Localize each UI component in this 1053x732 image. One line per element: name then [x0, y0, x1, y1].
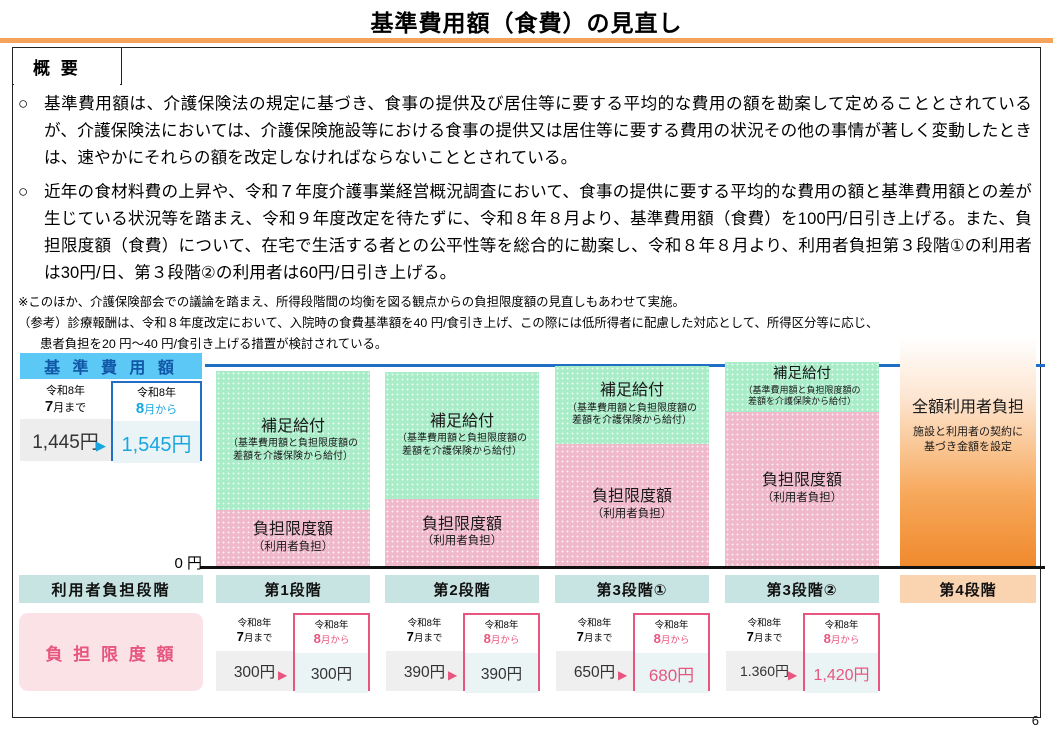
segment-subtitle: （利用者負担）: [592, 508, 673, 522]
limit-row-label: 負 担 限 度 額: [19, 613, 203, 691]
limit-after-col: 令和8年 8月から 680円: [633, 613, 710, 691]
limit-after-value: 390円: [465, 653, 538, 693]
bar-stage-3-1: 補足給付 （基準費用額と負担限度額の差額を介護保険から給付） 負担限度額 （利用…: [555, 366, 709, 566]
segment-subtitle: （利用者負担）: [422, 535, 503, 549]
limit-before-head: 令和8年 7月まで: [556, 613, 633, 651]
axis-zero-label: 0 円: [160, 552, 202, 573]
limit-after-col: 令和8年 8月から 1,420円: [803, 613, 880, 691]
limit-group-stage-3-1: 令和8年 7月まで 650円 令和8年 8月から 680円 ▶: [556, 613, 710, 691]
title-divider: [0, 38, 1053, 43]
base-cost-before-head: 令和8年 7月まで: [20, 381, 111, 419]
bar-segment-supplement: 補足給付 （基準費用額と負担限度額の差額を介護保険から給付）: [555, 366, 709, 444]
stage-label-5: 第4段階: [900, 575, 1036, 603]
stage-label-3: 第3段階①: [555, 575, 709, 603]
segment-title: 全額利用者負担: [912, 399, 1024, 417]
limit-after-head: 令和8年 8月から: [635, 615, 708, 653]
segment-subtitle: （基準費用額と負担限度額の差額を介護保険から給付）: [743, 385, 860, 408]
limit-after-month: 8月から: [654, 632, 690, 647]
stage-label-1: 第1段階: [216, 575, 370, 603]
limit-after-month: 8月から: [824, 632, 860, 647]
base-cost-after-col: 令和8年 8月から 1,545円: [111, 381, 202, 461]
bar-segment-limit: 負担限度額 （利用者負担）: [725, 412, 879, 566]
stage-row-header: 利用者負担段階: [19, 575, 203, 603]
segment-title: 補足給付: [773, 366, 831, 383]
limit-before-head: 令和8年 7月まで: [386, 613, 463, 651]
limit-group-stage-1: 令和8年 7月まで 300円 令和8年 8月から 300円 ▶: [216, 613, 370, 691]
segment-subtitle: （利用者負担）: [762, 492, 843, 506]
limit-after-value: 1,420円: [805, 653, 878, 693]
segment-title: 負担限度額: [253, 521, 333, 539]
bar-stage-2: 補足給付 （基準費用額と負担限度額の差額を介護保険から給付） 負担限度額 （利用…: [385, 372, 539, 566]
bar-segment-limit: 負担限度額 （利用者負担）: [216, 510, 370, 566]
limit-group-stage-2: 令和8年 7月まで 390円 令和8年 8月から 390円 ▶: [386, 613, 540, 691]
limit-before-month: 7月まで: [747, 630, 783, 645]
limit-after-value: 680円: [635, 653, 708, 693]
limit-group-stage-3-2: 令和8年 7月まで 1.360円 令和8年 8月から 1,420円 ▶: [726, 613, 880, 691]
segment-title: 補足給付: [430, 413, 494, 431]
tab-mask: [14, 83, 120, 87]
limit-after-head: 令和8年 8月から: [465, 615, 538, 653]
stage-label-2: 第2段階: [385, 575, 539, 603]
base-cost-table: 令和8年 7月まで 1,445円 令和8年 8月から 1,545円 ▶: [20, 381, 202, 461]
slide: 基準費用額（食費）の見直し 概 要 ○ 基準費用額は、介護保険法の規定に基づき、…: [0, 0, 1053, 732]
segment-subtitle: 施設と利用者の契約に基づき金額を設定: [913, 425, 1023, 454]
axis-baseline: [200, 566, 1045, 569]
limit-after-head: 令和8年 8月から: [295, 615, 368, 653]
limit-before-head: 令和8年 7月まで: [726, 613, 803, 651]
limit-before-head: 令和8年 7月まで: [216, 613, 293, 651]
bullet-marker: ○: [18, 90, 44, 171]
arrow-icon: ▶: [96, 438, 106, 454]
limit-after-col: 令和8年 8月から 390円: [463, 613, 540, 691]
base-cost-after-month: 8月から: [136, 400, 177, 417]
bar-segment-limit: 負担限度額 （利用者負担）: [385, 499, 539, 566]
bullet-text: 基準費用額は、介護保険法の規定に基づき、食事の提供及び居住等に要する平均的な費用…: [44, 90, 1032, 171]
segment-subtitle: （基準費用額と負担限度額の差額を介護保険から給付）: [228, 438, 358, 463]
note-reference-cont: 患者負担を20 円～40 円/食引き上げる措置が検討されている。: [18, 335, 1032, 354]
section-tab-overview: 概 要: [12, 47, 122, 85]
limit-after-month: 8月から: [484, 632, 520, 647]
segment-title: 補足給付: [261, 418, 325, 436]
page-title: 基準費用額（食費）の見直し: [0, 4, 1053, 38]
stage-label-4: 第3段階②: [725, 575, 879, 603]
limit-after-value: 300円: [295, 653, 368, 693]
arrow-icon: ▶: [448, 668, 457, 682]
bullet-item: ○ 基準費用額は、介護保険法の規定に基づき、食事の提供及び居住等に要する平均的な…: [18, 90, 1032, 171]
limit-after-month: 8月から: [314, 632, 350, 647]
bar-segment-supplement: 補足給付 （基準費用額と負担限度額の差額を介護保険から給付）: [385, 372, 539, 499]
note-asterisk: ※このほか、介護保険部会での議論を踏まえ、所得段階間の均衡を図る観点からの負担限…: [18, 293, 1032, 312]
base-cost-before-year: 令和8年: [46, 385, 85, 398]
arrow-icon: ▶: [788, 668, 797, 682]
page-number: 6: [1032, 713, 1039, 728]
base-cost-after-value: 1,545円: [113, 421, 200, 463]
segment-subtitle: （基準費用額と負担限度額の差額を介護保険から給付）: [397, 433, 527, 458]
segment-title: 負担限度額: [422, 516, 502, 534]
bar-segment-supplement: 補足給付 （基準費用額と負担限度額の差額を介護保険から給付）: [216, 371, 370, 510]
base-cost-after-year: 令和8年: [137, 387, 176, 400]
limit-before-month: 7月まで: [577, 630, 613, 645]
segment-subtitle: （基準費用額と負担限度額の差額を介護保険から給付）: [567, 403, 697, 428]
bar-stage-3-2: 補足給付 （基準費用額と負担限度額の差額を介護保険から給付） 負担限度額 （利用…: [725, 362, 879, 566]
note-reference: （参考）診療報酬は、令和８年度改定において、入院時の食費基準額を40 円/食引き…: [18, 314, 1032, 333]
bar-segment-supplement: 補足給付 （基準費用額と負担限度額の差額を介護保険から給付）: [725, 362, 879, 412]
base-cost-before-month: 7月まで: [45, 398, 86, 415]
segment-title: 負担限度額: [592, 488, 672, 506]
segment-title: 補足給付: [600, 382, 664, 400]
arrow-icon: ▶: [278, 668, 287, 682]
base-cost-after-head: 令和8年 8月から: [113, 383, 200, 421]
bar-stage-1: 補足給付 （基準費用額と負担限度額の差額を介護保険から給付） 負担限度額 （利用…: [216, 371, 370, 566]
arrow-icon: ▶: [618, 668, 627, 682]
bar-segment-limit: 負担限度額 （利用者負担）: [555, 444, 709, 566]
base-cost-header: 基 準 費 用 額: [20, 353, 202, 379]
overview-body: ○ 基準費用額は、介護保険法の規定に基づき、食事の提供及び居住等に要する平均的な…: [18, 90, 1032, 354]
segment-title: 負担限度額: [762, 472, 842, 490]
bar-stage-4: 全額利用者負担 施設と利用者の契約に基づき金額を設定: [900, 337, 1036, 566]
limit-before-month: 7月まで: [407, 630, 443, 645]
limit-after-head: 令和8年 8月から: [805, 615, 878, 653]
bullet-marker: ○: [18, 178, 44, 286]
segment-subtitle: （利用者負担）: [253, 541, 334, 555]
limit-before-month: 7月まで: [237, 630, 273, 645]
bullet-text: 近年の食材料費の上昇や、令和７年度介護事業経営概況調査において、食事の提供に要す…: [44, 178, 1032, 286]
limit-after-col: 令和8年 8月から 300円: [293, 613, 370, 691]
bullet-item: ○ 近年の食材料費の上昇や、令和７年度介護事業経営概況調査において、食事の提供に…: [18, 178, 1032, 286]
